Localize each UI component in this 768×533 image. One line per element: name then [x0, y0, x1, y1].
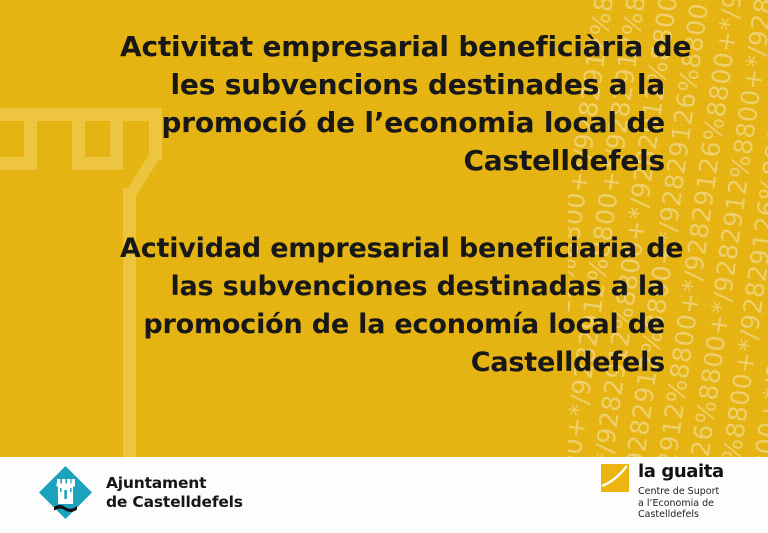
poster-footer: Ajuntament de Castelldefels la guaita Ce… [0, 457, 768, 533]
headline-spanish: Actividad empresarial beneficiaria de la… [120, 230, 665, 382]
poster-body: 126%8800+*/9282912%8800+*/9282912%8800 1… [0, 0, 768, 457]
la-guaita-logo: la guaita Centre de Suport a l’Economia … [601, 462, 724, 521]
headline-catalan-line-4: Castelldefels [120, 142, 665, 180]
la-guaita-wordmark: la guaita [638, 462, 724, 482]
la-guaita-text: la guaita Centre de Suport a l’Economia … [638, 462, 724, 521]
headline-spanish-line-3: promoción de la economía local de [120, 306, 665, 344]
ajuntament-line-1: Ajuntament [106, 474, 243, 493]
la-guaita-subtitle: Centre de Suport a l’Economia de Castell… [638, 486, 724, 521]
ajuntament-logo: Ajuntament de Castelldefels [38, 465, 243, 520]
headline-catalan-line-2: les subvencions destinades a la [120, 66, 665, 104]
headline-spanish-line-4: Castelldefels [120, 344, 665, 382]
la-guaita-subtitle-line-1: Centre de Suport [638, 486, 724, 498]
ajuntament-wordmark: Ajuntament de Castelldefels [106, 474, 243, 512]
headline-catalan-line-1: Activitat empresarial beneficiària de [120, 28, 665, 66]
headline-catalan: Activitat empresarial beneficiària de le… [120, 28, 665, 180]
poster-canvas: 126%8800+*/9282912%8800+*/9282912%8800 1… [0, 0, 768, 533]
headline-catalan-line-3: promoció de l’economia local de [120, 104, 665, 142]
la-guaita-subtitle-line-3: Castelldefels [638, 509, 724, 521]
la-guaita-swoosh-icon [601, 464, 629, 492]
la-guaita-subtitle-line-2: a l’Economia de [638, 498, 724, 510]
headline-spanish-line-1: Actividad empresarial beneficiaria de [120, 230, 665, 268]
castelldefels-crest-diamond-icon [38, 465, 93, 520]
ajuntament-line-2: de Castelldefels [106, 493, 243, 512]
headline-spanish-line-2: las subvenciones destinadas a la [120, 268, 665, 306]
poster-copy: Activitat empresarial beneficiària de le… [120, 28, 665, 382]
